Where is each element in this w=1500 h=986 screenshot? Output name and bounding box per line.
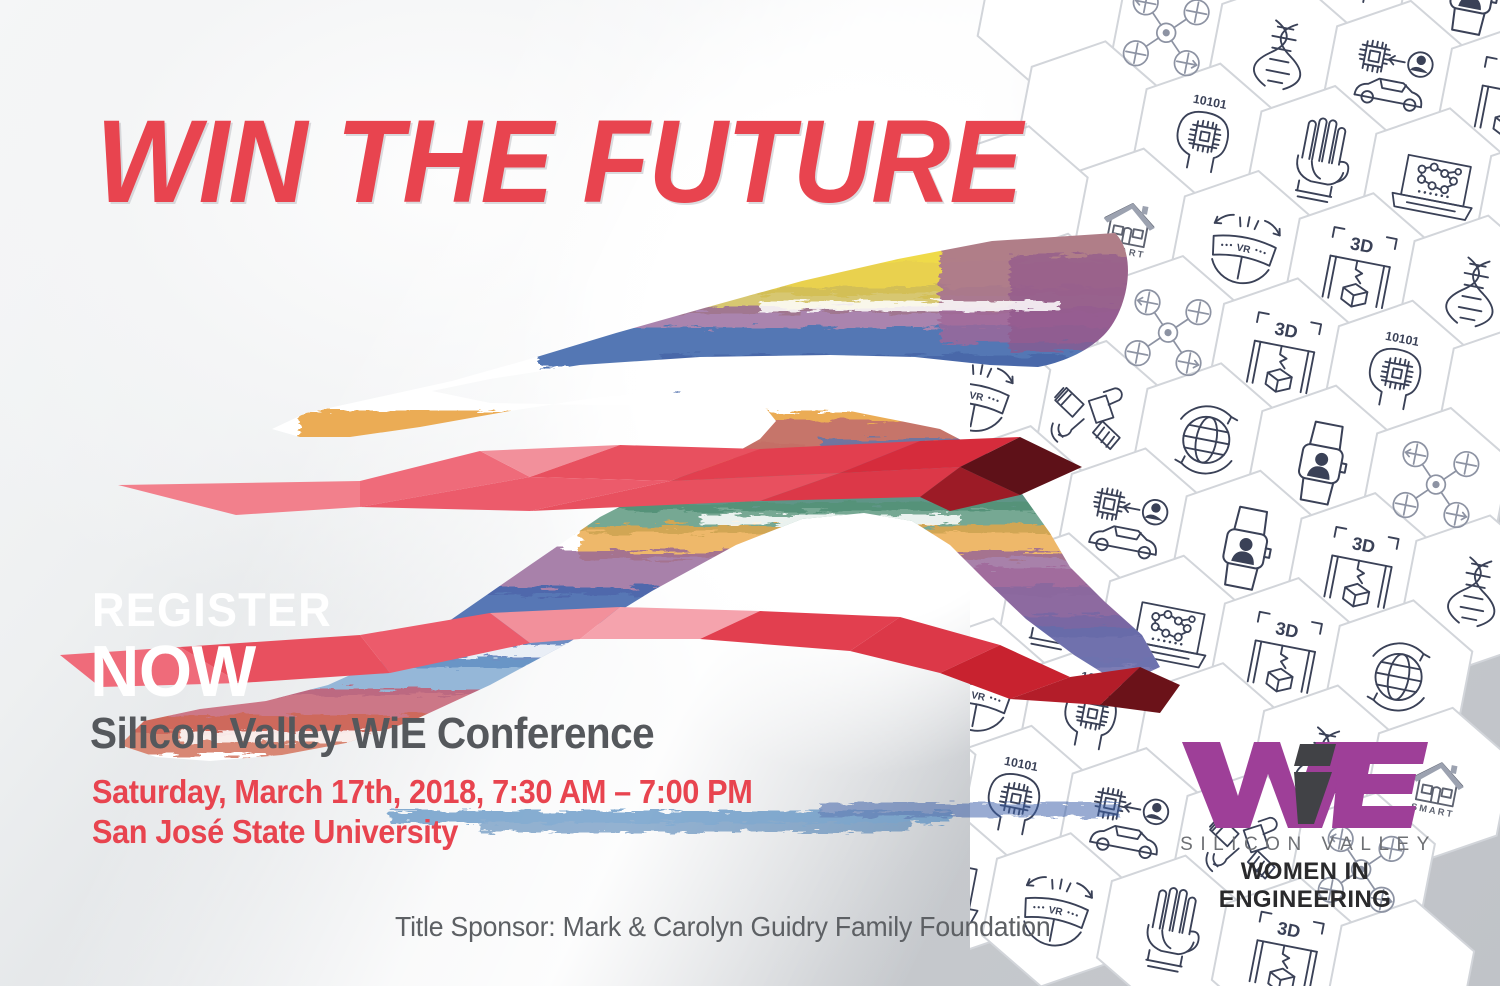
cta-register-label: REGISTER bbox=[92, 586, 332, 633]
event-datetime: Saturday, March 17th, 2018, 7:30 AM – 7:… bbox=[92, 775, 752, 808]
logo-org-label: WOMEN IN ENGINEERING bbox=[1160, 858, 1450, 914]
page-title: WIN THE FUTURE bbox=[96, 103, 1022, 221]
motion-streak-upper bbox=[118, 437, 1082, 515]
logo-region-label: SILICON VALLEY bbox=[1160, 834, 1450, 856]
wie-wordmark-icon bbox=[1180, 738, 1430, 830]
title-sponsor-text: Title Sponsor: Mark & Carolyn Guidry Fam… bbox=[395, 913, 1050, 941]
watercolor-runner-artwork bbox=[60, 215, 1180, 855]
conference-poster: SMART VR bbox=[0, 0, 1500, 986]
cta-now-label: NOW bbox=[90, 636, 256, 708]
event-venue: San José State University bbox=[92, 815, 458, 848]
conference-name: Silicon Valley WiE Conference bbox=[90, 712, 654, 756]
wie-logo: SILICON VALLEY WOMEN IN ENGINEERING bbox=[1160, 738, 1450, 888]
